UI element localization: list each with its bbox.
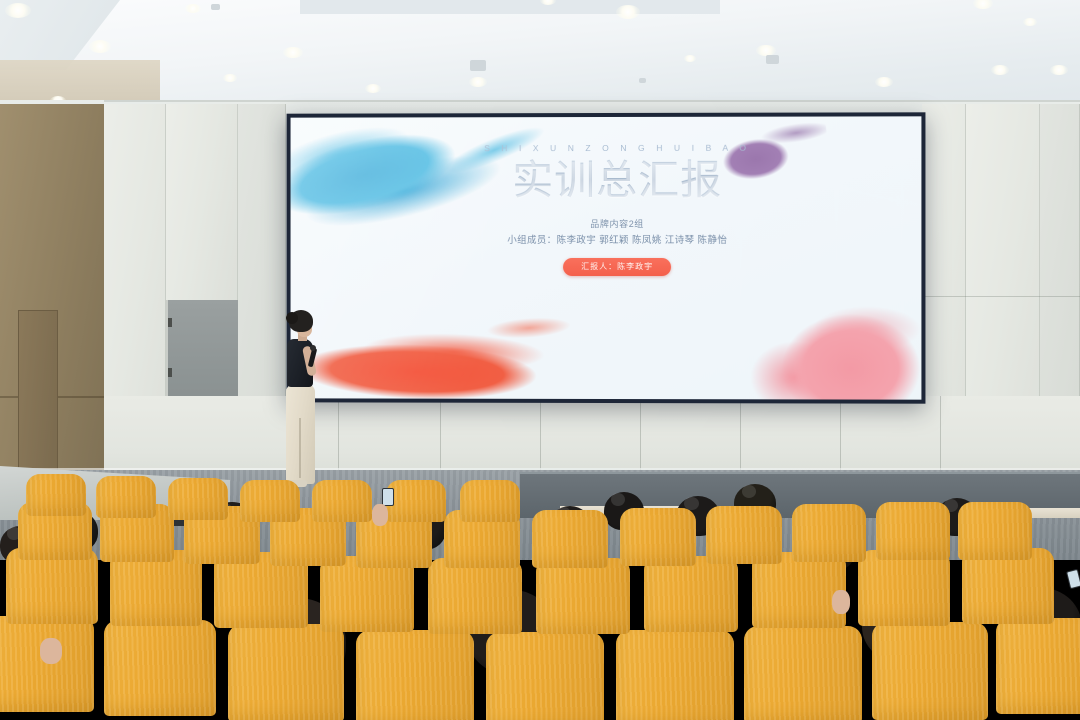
slide-presenter-badge: 汇报人：陈李政宇 [563, 258, 671, 276]
door-hinge-icon [168, 318, 172, 327]
auditorium-seat[interactable] [876, 502, 950, 560]
downlight-icon [185, 4, 201, 13]
wall-seam [104, 100, 1080, 102]
audience-hand [40, 638, 62, 664]
auditorium-seat[interactable] [386, 480, 446, 522]
seat-wood-grain [386, 480, 446, 522]
auditorium-seat[interactable] [958, 502, 1032, 560]
seat-wood-grain [858, 550, 950, 626]
ceiling-sensor-icon [766, 55, 779, 64]
seat-wood-grain [356, 630, 474, 720]
auditorium-seat[interactable] [26, 474, 86, 516]
downlight-icon [89, 40, 111, 53]
seat-wood-grain [228, 624, 344, 720]
seat-wood-grain [536, 558, 630, 634]
slide-text-block: S H I X U N Z O N G H U I B A O 实训总汇报 品牌… [467, 143, 767, 276]
downlight-icon [684, 55, 696, 62]
seat-wood-grain [104, 620, 216, 716]
auditorium-seat[interactable] [104, 620, 216, 716]
led-screen-bezel: S H I X U N Z O N G H U I B A O 实训总汇报 品牌… [287, 112, 926, 403]
seat-wood-grain [706, 506, 782, 564]
auditorium-seat[interactable] [356, 630, 474, 720]
phone-icon[interactable] [382, 488, 394, 506]
side-door[interactable] [18, 310, 58, 494]
seat-wood-grain [96, 476, 156, 518]
audience-hand [832, 590, 850, 614]
seat-wood-grain [460, 480, 520, 522]
auditorium-seat[interactable] [744, 626, 862, 720]
seat-wood-grain [240, 480, 300, 522]
auditorium-seat[interactable] [486, 632, 604, 720]
auditorium-seat[interactable] [706, 506, 782, 564]
auditorium-seat[interactable] [620, 508, 696, 566]
ceiling-sprinkler-icon [211, 4, 220, 10]
seat-wood-grain [792, 504, 866, 562]
auditorium-seat[interactable] [536, 558, 630, 634]
downlight-icon [283, 47, 303, 59]
raised-hand [372, 504, 388, 526]
auditorium-seat[interactable] [460, 480, 520, 522]
seat-wood-grain [872, 622, 988, 720]
seat-wood-grain [876, 502, 950, 560]
seat-wood-grain [428, 558, 522, 634]
presenter-trousers [286, 384, 315, 484]
auditorium-seat[interactable] [996, 618, 1080, 714]
seat-wood-grain [644, 556, 738, 632]
presentation-slide[interactable]: S H I X U N Z O N G H U I B A O 实训总汇报 品牌… [291, 116, 922, 399]
auditorium-scene: S H I X U N Z O N G H U I B A O 实训总汇报 品牌… [0, 0, 1080, 720]
auditorium-seat[interactable] [228, 624, 344, 720]
slide-title: 实训总汇报 [467, 157, 767, 203]
seat-wood-grain [0, 616, 94, 712]
seat-wood-grain [996, 618, 1080, 714]
microphone-head-icon [310, 345, 316, 351]
auditorium-seat[interactable] [168, 478, 228, 520]
seat-wood-grain [486, 632, 604, 720]
seat-wood-grain [312, 480, 372, 522]
auditorium-seat[interactable] [616, 630, 734, 720]
auditorium-seat[interactable] [644, 556, 738, 632]
wall-seam [922, 296, 1080, 297]
slide-group-name: 品牌内容2组 [467, 217, 767, 230]
ceiling-sprinkler-icon [639, 78, 646, 83]
seat-wood-grain [744, 626, 862, 720]
seat-wood-grain [168, 478, 228, 520]
ceiling-sensor-icon [470, 60, 486, 71]
audience-area [0, 470, 1080, 720]
auditorium-seat[interactable] [858, 550, 950, 626]
presenter [277, 310, 323, 490]
auditorium-seat[interactable] [532, 510, 608, 568]
presenter-hair-bun [286, 312, 298, 324]
brush-stroke-coral-spray [468, 301, 591, 355]
auditorium-seat[interactable] [240, 480, 300, 522]
ceiling-recess [300, 0, 720, 14]
brush-stroke-pink [726, 257, 921, 400]
auditorium-seat[interactable] [312, 480, 372, 522]
brush-stroke-coral [291, 308, 581, 400]
seat-wood-grain [620, 508, 696, 566]
seat-wood-grain [26, 474, 86, 516]
slide-pinyin-subtitle: S H I X U N Z O N G H U I B A O [467, 143, 767, 153]
seat-wood-grain [958, 502, 1032, 560]
slide-member-list: 小组成员：陈李政宇 郭红颖 陈凤姚 江诗琴 陈静怡 [467, 232, 767, 246]
seat-wood-grain [532, 510, 608, 568]
downlight-icon [5, 3, 31, 18]
phone-icon[interactable] [1066, 569, 1080, 589]
auditorium-seat[interactable] [428, 558, 522, 634]
auditorium-seat[interactable] [0, 616, 94, 712]
auditorium-seat[interactable] [872, 622, 988, 720]
auditorium-seat[interactable] [96, 476, 156, 518]
downlight-icon [365, 84, 381, 93]
door-hinge-icon [168, 368, 172, 377]
auditorium-seat[interactable] [792, 504, 866, 562]
wall-panel [166, 104, 238, 300]
seat-wood-grain [616, 630, 734, 720]
